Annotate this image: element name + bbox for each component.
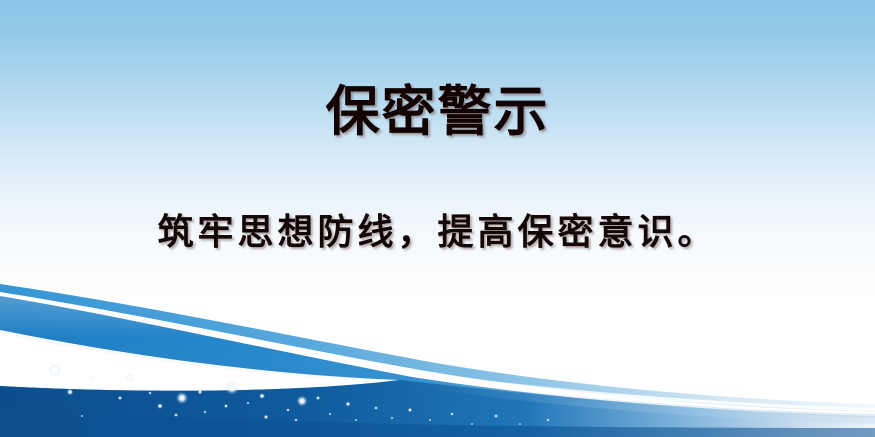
- page-title: 保密警示: [0, 83, 875, 141]
- poster-text-layer: 保密警示 筑牢思想防线，提高保密意识。: [0, 0, 875, 300]
- poster-slogan: 筑牢思想防线，提高保密意识。: [0, 211, 875, 255]
- secrecy-warning-poster: 保密警示 筑牢思想防线，提高保密意识。: [0, 0, 875, 437]
